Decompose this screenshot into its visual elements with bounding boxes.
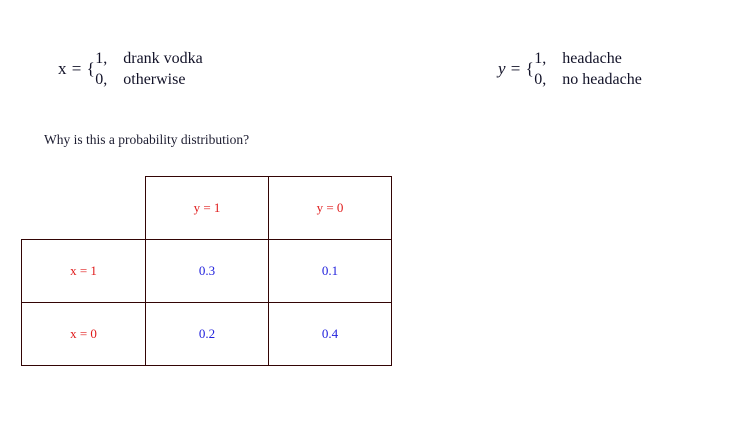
column-header-y0: y = 0 [269, 177, 392, 240]
x-case-1-description: drank vodka [113, 48, 203, 69]
y-case-1-value: 1, [534, 48, 552, 69]
y-case-2: 0, no headache [534, 69, 642, 90]
joint-probability-table: y = 1 y = 0 x = 1 0.3 0.1 x = 0 0.2 0.4 [21, 176, 392, 366]
x-case-2-description: otherwise [113, 69, 185, 90]
y-cases: 1, headache 0, no headache [534, 48, 642, 90]
y-case-1-description: headache [552, 48, 622, 69]
x-case-1: 1, drank vodka [95, 48, 203, 69]
table-corner-cell [22, 177, 146, 240]
y-case-2-description: no headache [552, 69, 642, 90]
y-variable-symbol: y [498, 59, 506, 78]
row-header-x1: x = 1 [22, 240, 146, 303]
y-equals-brace: = { [511, 59, 535, 78]
row-header-x0: x = 0 [22, 303, 146, 366]
x-case-2-value: 0, [95, 69, 113, 90]
x-case-2: 0, otherwise [95, 69, 203, 90]
y-case-1: 1, headache [534, 48, 642, 69]
x-equals-brace: = { [72, 59, 96, 78]
column-header-y1: y = 1 [146, 177, 269, 240]
table-header-row: y = 1 y = 0 [22, 177, 392, 240]
x-variable-symbol: x [58, 59, 67, 78]
cell-x1-y0: 0.1 [269, 240, 392, 303]
table-row: x = 1 0.3 0.1 [22, 240, 392, 303]
y-variable-label: y = { [498, 59, 534, 79]
x-cases: 1, drank vodka 0, otherwise [95, 48, 203, 90]
y-case-2-value: 0, [534, 69, 552, 90]
x-case-1-value: 1, [95, 48, 113, 69]
x-definition: x = { 1, drank vodka 0, otherwise [58, 48, 203, 90]
x-variable-label: x = { [58, 59, 95, 79]
cell-x1-y1: 0.3 [146, 240, 269, 303]
cell-x0-y0: 0.4 [269, 303, 392, 366]
cell-x0-y1: 0.2 [146, 303, 269, 366]
y-definition: y = { 1, headache 0, no headache [498, 48, 642, 90]
question-text: Why is this a probability distribution? [44, 132, 249, 148]
table-row: x = 0 0.2 0.4 [22, 303, 392, 366]
